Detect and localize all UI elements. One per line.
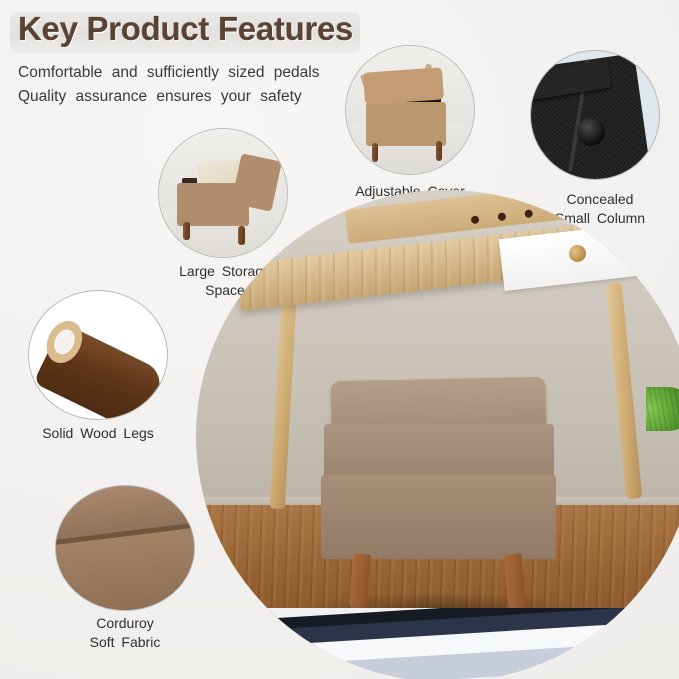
cover-lid [363,68,444,105]
feature-image-solid-wood-legs [28,290,168,420]
feature-caption-corduroy-soft-fabric: Corduroy Soft Fabric [50,614,200,652]
feature-caption-solid-wood-legs: Solid Wood Legs [18,424,178,443]
legs-photo [29,291,167,419]
column-photo [531,51,659,179]
fabric-photo [56,486,194,610]
storage-leg-left [183,222,189,240]
cover-base [366,102,445,146]
subtitle-line-2: Quality assurance ensures your safety [18,88,302,106]
ottoman-body [321,475,556,559]
cover-photo [346,46,474,174]
ottoman-upper-band [324,424,554,481]
caption-line-1: Corduroy [50,614,200,633]
riser-knob [497,212,506,221]
caption-line-1: Solid Wood Legs [18,424,178,443]
geometric-rug [196,608,679,679]
feature-image-concealed-small-column [530,50,660,180]
hero-product-photo [196,190,679,679]
infographic-page: Key Product Features Comfortable and suf… [0,0,679,679]
caption-line-2: Soft Fabric [50,633,200,652]
plant-leaf [646,387,679,431]
riser-knob [471,215,480,224]
riser-knob [524,209,533,218]
feature-image-corduroy-soft-fabric [55,485,195,611]
cover-leg-left [372,143,378,162]
concealed-column-knob [577,118,605,146]
cover-leg-right [436,141,442,161]
page-title: Key Product Features [18,10,353,48]
feature-image-adjustable-cover [345,45,475,175]
subtitle-line-1: Comfortable and sufficiently sized pedal… [18,64,319,82]
